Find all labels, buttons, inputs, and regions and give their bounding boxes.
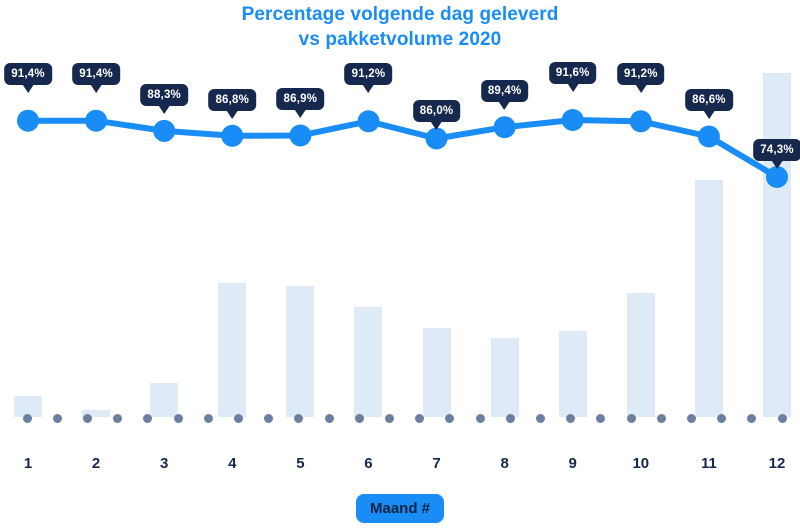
data-label-month-2: 91,4% xyxy=(72,63,120,85)
line-marker-month-7[interactable] xyxy=(426,128,448,150)
x-tick-11: 11 xyxy=(701,455,717,472)
line-marker-month-6[interactable] xyxy=(358,110,380,132)
line-marker-month-9[interactable] xyxy=(562,109,584,131)
line-marker-month-4[interactable] xyxy=(221,125,243,147)
x-tick-12: 12 xyxy=(769,455,786,472)
line-marker-month-1[interactable] xyxy=(17,110,39,132)
line-series-percentage xyxy=(0,0,800,440)
x-tick-3: 3 xyxy=(160,455,168,472)
line-marker-month-12[interactable] xyxy=(766,166,788,188)
data-label-month-8: 89,4% xyxy=(481,80,529,102)
data-label-month-7: 86,0% xyxy=(413,100,461,122)
data-label-month-10: 91,2% xyxy=(617,63,665,85)
data-label-month-5: 86,9% xyxy=(277,88,325,110)
data-label-month-6: 91,2% xyxy=(345,63,393,85)
line-marker-month-11[interactable] xyxy=(698,126,720,148)
data-label-month-1: 91,4% xyxy=(4,63,52,85)
x-tick-2: 2 xyxy=(92,455,100,472)
x-tick-7: 7 xyxy=(432,455,440,472)
x-tick-8: 8 xyxy=(500,455,508,472)
x-tick-1: 1 xyxy=(24,455,32,472)
data-label-month-3: 88,3% xyxy=(140,84,188,106)
data-label-month-12: 74,3% xyxy=(753,139,800,161)
x-tick-5: 5 xyxy=(296,455,304,472)
line-marker-month-8[interactable] xyxy=(494,116,516,138)
chart-container: Percentage volgende dag geleverd vs pakk… xyxy=(0,0,800,532)
x-tick-6: 6 xyxy=(364,455,372,472)
line-marker-month-10[interactable] xyxy=(630,110,652,132)
line-marker-month-5[interactable] xyxy=(289,125,311,147)
x-tick-9: 9 xyxy=(569,455,577,472)
line-marker-month-2[interactable] xyxy=(85,110,107,132)
x-axis-title-badge: Maand # xyxy=(356,494,444,523)
x-tick-10: 10 xyxy=(632,455,649,472)
data-label-month-9: 91,6% xyxy=(549,62,597,84)
line-marker-month-3[interactable] xyxy=(153,120,175,142)
x-tick-4: 4 xyxy=(228,455,236,472)
data-label-month-11: 86,6% xyxy=(685,89,733,111)
percentage-line-path xyxy=(28,120,777,177)
data-label-month-4: 86,8% xyxy=(208,89,256,111)
